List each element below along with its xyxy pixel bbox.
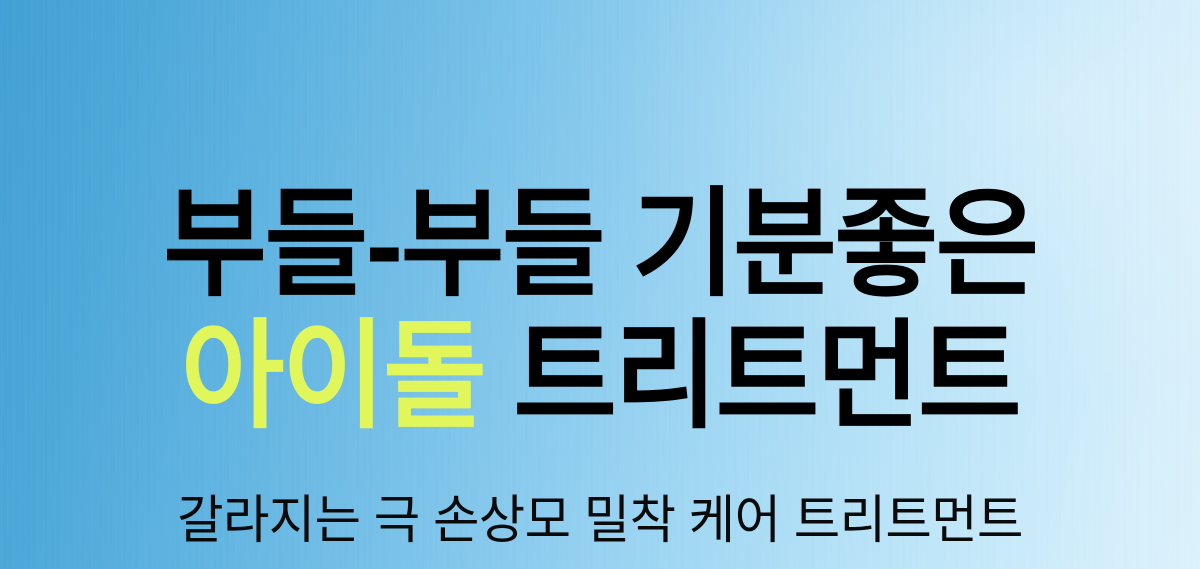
headline-line-2-rest: 트리트먼트 (484, 311, 1019, 443)
headline-accent-word: 아이돌 (181, 311, 485, 443)
headline-line-1: 부들-부들 기분좋은 (27, 186, 1173, 304)
subtitle: 갈라지는 극 손상모 밀착 케어 트리트먼트 (18, 492, 1182, 550)
headline-line-2: 아이돌 트리트먼트 (27, 318, 1173, 436)
promo-banner: 부들-부들 기분좋은 아이돌 트리트먼트 갈라지는 극 손상모 밀착 케어 트리… (0, 0, 1200, 569)
banner-content: 부들-부들 기분좋은 아이돌 트리트먼트 갈라지는 극 손상모 밀착 케어 트리… (0, 0, 1200, 569)
